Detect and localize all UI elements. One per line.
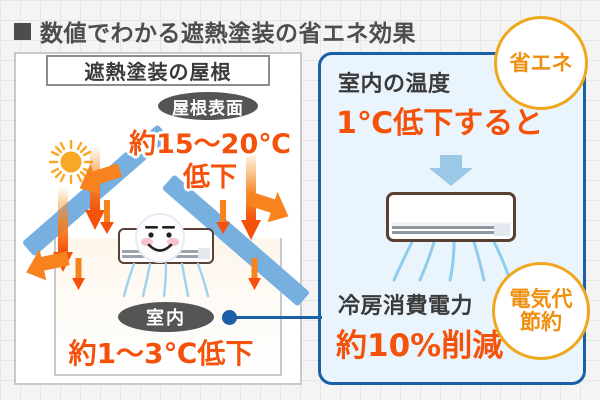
connector-dot: [222, 310, 237, 325]
down-arrow-heat-icon: [100, 200, 114, 234]
blue-down-arrow-icon: [428, 155, 474, 187]
electricity-saving-badge: 電気代 節約: [492, 262, 590, 360]
air-conditioner-icon: [386, 192, 516, 242]
infographic-root: 数値でわかる遮熱塗装の省エネ効果: [0, 0, 600, 400]
indoor-temperature-label: 室内の温度: [338, 66, 518, 98]
electricity-saving-badge-line1: 電気代: [510, 288, 573, 311]
energy-saving-badge-label: 省エネ: [510, 52, 573, 75]
airflow-icon: [118, 262, 214, 298]
up-arrow-reflect-icon: [74, 152, 122, 196]
connector-line: [236, 316, 322, 319]
roof-heading-box: 遮熱塗装の屋根: [46, 55, 270, 86]
energy-saving-badge: 省エネ: [494, 16, 588, 110]
indoor-temp-drop-value: 約1〜3℃低下: [36, 332, 286, 372]
smiley-face-icon: [134, 212, 186, 264]
electricity-saving-badge-line2: 節約: [520, 311, 562, 334]
indoor-badge: 室内: [118, 302, 214, 332]
airflow-icon: [386, 240, 516, 282]
up-arrow-reflect-icon: [22, 238, 70, 282]
page-title-text: 数値でわかる遮熱塗装の省エネ効果: [40, 14, 416, 48]
square-bullet-icon: [14, 23, 31, 40]
roof-temp-drop-suffix: 低下: [120, 155, 300, 194]
down-arrow-heat-icon: [216, 200, 230, 234]
roof-surface-badge: 屋根表面: [158, 92, 258, 120]
down-arrow-heat-icon: [72, 258, 85, 290]
down-arrow-heat-icon: [248, 258, 261, 290]
indoor-temperature-condition: 1℃低下すると: [336, 98, 546, 142]
page-title: 数値でわかる遮熱塗装の省エネ効果: [14, 14, 416, 48]
